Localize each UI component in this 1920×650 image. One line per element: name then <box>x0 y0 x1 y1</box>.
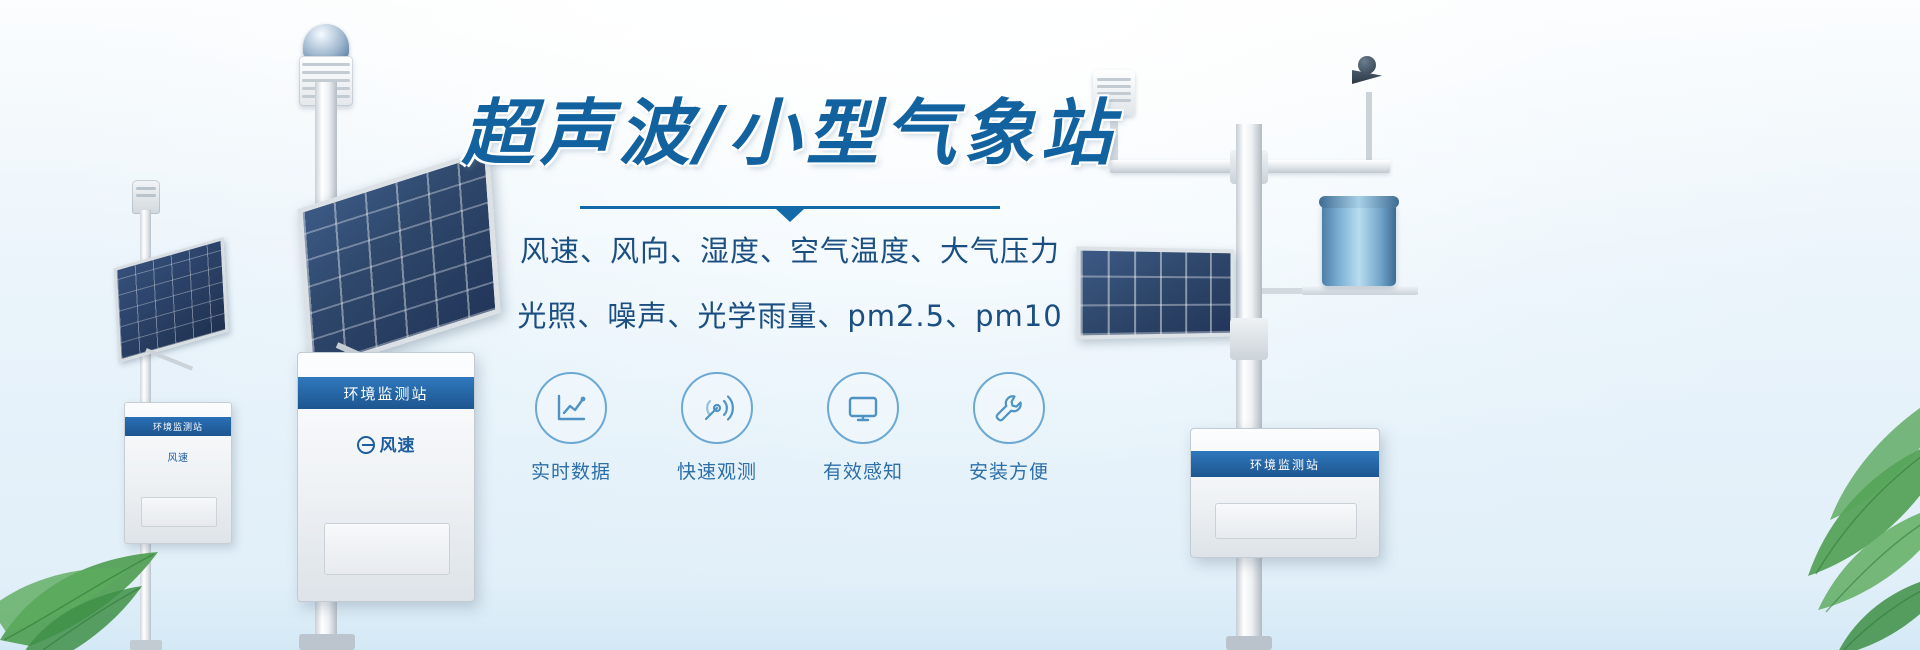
divider-triangle-icon <box>776 209 804 222</box>
control-enclosure: 环境监测站 <box>1190 428 1380 558</box>
brand-mark-icon <box>357 436 375 454</box>
feature-item-fast-observation[interactable]: 快速观测 <box>673 372 761 484</box>
feature-icon-circle <box>973 372 1045 444</box>
enclosure-vent <box>1215 503 1357 539</box>
sky-dome-sensor-icon <box>303 24 349 58</box>
feature-item-effective-sensing[interactable]: 有效感知 <box>819 372 907 484</box>
feature-icon-circle <box>681 372 753 444</box>
enclosure-label-strip: 环境监测站 <box>1191 451 1379 477</box>
enclosure-label-text: 环境监测站 <box>153 420 203 433</box>
tropical-leaf-left-icon <box>0 440 220 650</box>
station-base <box>299 634 355 650</box>
page-title: 超声波/小型气象站 <box>440 96 1140 172</box>
panel-support-arm <box>145 348 193 370</box>
feature-icon-circle <box>535 372 607 444</box>
feature-item-easy-install[interactable]: 安装方便 <box>965 372 1053 484</box>
feature-label: 安装方便 <box>965 457 1053 484</box>
feature-list: 实时数据 快速观测 <box>440 372 1140 484</box>
feature-icon-circle <box>827 372 899 444</box>
line-chart-icon <box>551 388 591 428</box>
vane-stem <box>1366 92 1372 162</box>
mast-clamp-mid <box>1230 318 1268 360</box>
enclosure-label-text: 环境监测站 <box>343 383 428 404</box>
brand-logo-text: 风速 <box>380 436 416 456</box>
feature-label: 实时数据 <box>527 457 615 484</box>
radar-wave-icon <box>697 388 737 428</box>
banner-content: 超声波/小型气象站 风速、风向、湿度、空气温度、大气压力 光照、噪声、光学雨量、… <box>440 96 1140 484</box>
subtitle-line-1: 风速、风向、湿度、空气温度、大气压力 <box>440 229 1140 274</box>
solar-panel <box>114 237 229 363</box>
station-base <box>1226 636 1272 650</box>
wind-vane-sensor <box>1350 56 1384 94</box>
subtitle-line-2: 光照、噪声、光学雨量、pm2.5、pm10 <box>440 294 1140 339</box>
rain-gauge-sensor <box>1322 202 1396 286</box>
title-divider <box>580 206 1000 209</box>
feature-label: 快速观测 <box>673 457 761 484</box>
feature-label: 有效感知 <box>819 457 907 484</box>
rain-gauge-shelf <box>1302 286 1418 295</box>
product-banner: 环境监测站 风速 环境监测站 风速 超声波/小型气象站 <box>0 0 1920 650</box>
wrench-icon <box>989 388 1029 428</box>
enclosure-vent <box>324 523 450 575</box>
monitor-icon <box>843 388 883 428</box>
feature-item-realtime-data[interactable]: 实时数据 <box>527 372 615 484</box>
enclosure-label-text: 环境监测站 <box>1250 456 1320 473</box>
tropical-leaf-right-icon <box>1640 380 1920 650</box>
radiation-shield-sensor <box>132 180 160 214</box>
enclosure-label-strip: 环境监测站 <box>125 417 231 436</box>
station-mast <box>1236 124 1262 650</box>
